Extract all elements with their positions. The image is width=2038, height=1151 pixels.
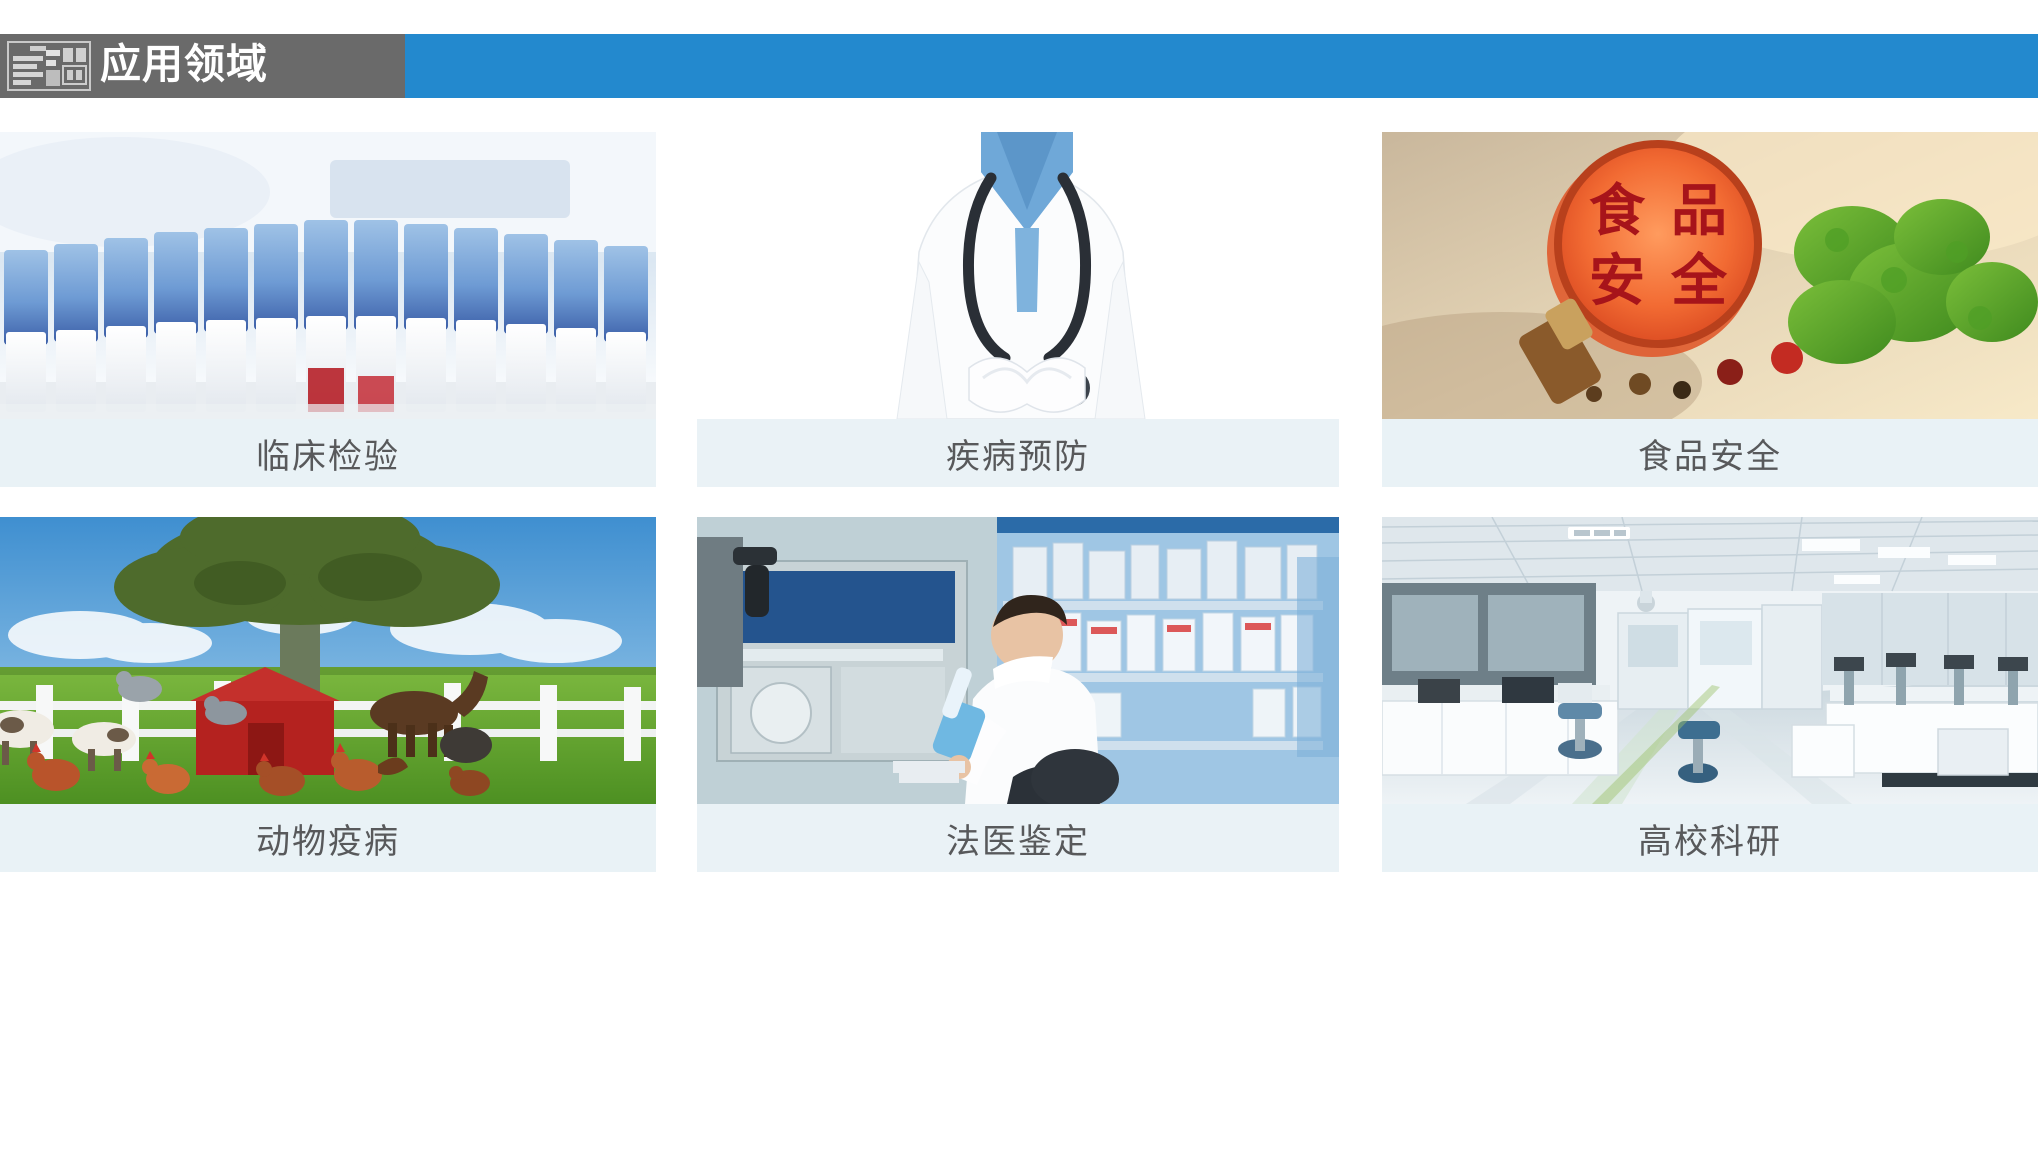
svg-text:品: 品 — [1671, 179, 1727, 244]
card-label: 临床检验 — [0, 419, 656, 487]
card-food-safety[interactable]: 食品 安全 — [1382, 132, 2038, 487]
card-university-research[interactable]: 高校科研 — [1382, 517, 2038, 872]
blood-collection-tubes-photo — [0, 132, 656, 419]
card-label: 动物疫病 — [0, 804, 656, 872]
forensic-lab-technician-photo — [697, 517, 1339, 804]
university-research-lab-photo — [1382, 517, 2038, 804]
card-clinical-testing[interactable]: 临床检验 — [0, 132, 656, 487]
lab-instrument-icon — [6, 40, 92, 92]
card-label: 法医鉴定 — [697, 804, 1339, 872]
svg-text:全: 全 — [1670, 249, 1728, 314]
section-header: 应用领域 — [0, 34, 2038, 98]
header-title-tab: 应用领域 — [0, 34, 405, 98]
card-forensic-identification[interactable]: 法医鉴定 — [697, 517, 1339, 872]
section-title: 应用领域 — [100, 44, 268, 88]
food-safety-magnifier-photo: 食品 安全 — [1382, 132, 2038, 419]
application-cards-grid: 临床检验 — [0, 132, 2038, 872]
card-label: 疾病预防 — [697, 419, 1339, 487]
card-label: 高校科研 — [1382, 804, 2038, 872]
card-disease-prevention[interactable]: 疾病预防 — [697, 132, 1339, 487]
svg-text:食: 食 — [1589, 179, 1646, 244]
farm-animals-photo — [0, 517, 656, 804]
card-animal-epidemic[interactable]: 动物疫病 — [0, 517, 656, 872]
card-label: 食品安全 — [1382, 419, 2038, 487]
doctor-heart-hands-photo — [697, 132, 1339, 419]
svg-text:安: 安 — [1589, 249, 1645, 314]
application-fields-slide: 应用领域 — [0, 0, 2038, 1151]
